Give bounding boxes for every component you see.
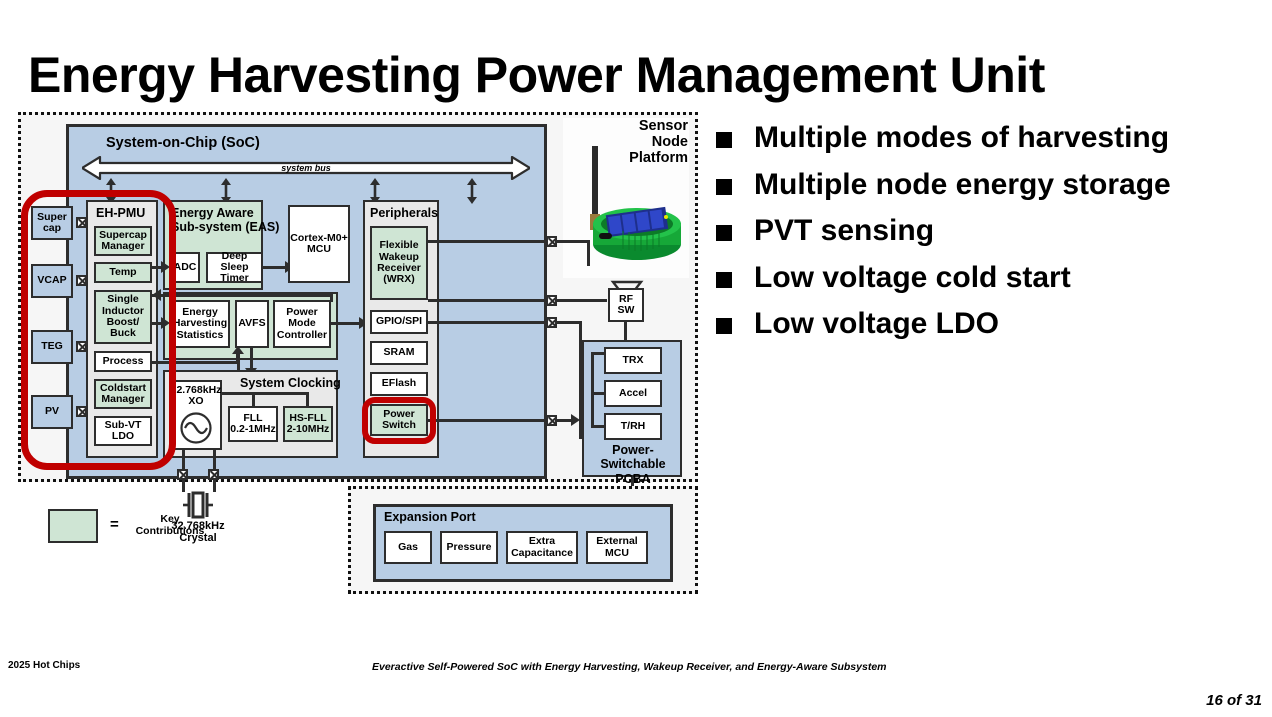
block-line: (WRX) bbox=[377, 274, 421, 285]
pad-node-xtal-right bbox=[208, 469, 219, 480]
block-line: MCU bbox=[290, 244, 347, 255]
list-item: Low voltage LDO bbox=[716, 306, 1256, 343]
eas-block-power-mode-controller: Power Mode Controller bbox=[273, 300, 331, 348]
wire-pcba-trh bbox=[591, 425, 605, 428]
block-line: SRAM bbox=[384, 347, 415, 358]
platform-title-line: Sensor bbox=[566, 118, 688, 134]
wire-wrx1b bbox=[557, 240, 589, 243]
wire-process-v bbox=[236, 352, 239, 362]
pcba-block-trh: T/RH bbox=[604, 413, 662, 440]
eas-title-line: Energy Aware bbox=[171, 206, 263, 220]
clocking-block-fll: FLL 0.2-1MHz bbox=[228, 406, 278, 442]
wire-wrx1 bbox=[428, 240, 546, 243]
block-line: Flexible bbox=[377, 240, 421, 251]
legend-label-line: Contributions bbox=[122, 525, 218, 537]
block-line: Sleep Timer bbox=[208, 262, 261, 285]
footer-conference: 2025 Hot Chips bbox=[8, 660, 80, 671]
block-line: External bbox=[596, 536, 637, 547]
page-title: Energy Harvesting Power Management Unit bbox=[28, 44, 1208, 106]
highlight-power-switch bbox=[362, 397, 436, 444]
soc-title: System-on-Chip (SoC) bbox=[106, 135, 260, 151]
bullet-square-icon bbox=[716, 225, 732, 241]
highlight-ehpmu-region bbox=[21, 190, 176, 470]
legend-key-swatch bbox=[48, 509, 98, 543]
block-line: GPIO/SPI bbox=[376, 316, 422, 327]
system-clocking-title: System Clocking bbox=[240, 376, 341, 390]
bullet-square-icon bbox=[716, 132, 732, 148]
list-item: Low voltage cold start bbox=[716, 260, 1256, 297]
block-line: 0.2-1MHz bbox=[230, 424, 276, 435]
expansion-block-external-mcu: External MCU bbox=[586, 531, 648, 564]
expansion-block-extra-capacitance: Extra Capacitance bbox=[506, 531, 578, 564]
expansion-block-gas: Gas bbox=[384, 531, 432, 564]
block-line: Controller bbox=[277, 330, 327, 341]
wire-psw bbox=[428, 419, 546, 422]
wire-gpio-b bbox=[557, 321, 581, 324]
bus-connector-peripherals bbox=[465, 178, 479, 204]
eas-title-line: Sub-system (EAS) bbox=[171, 220, 263, 234]
arrow-psw-to-pcba bbox=[571, 414, 580, 426]
wire-sibb-top bbox=[152, 294, 332, 297]
list-item: PVT sensing bbox=[716, 213, 1256, 250]
wire-dst-to-mcu bbox=[263, 266, 287, 269]
pcba-block-accel: Accel bbox=[604, 380, 662, 407]
bullet-text: PVT sensing bbox=[754, 213, 934, 250]
block-line: Mode bbox=[277, 318, 327, 329]
pad-node-gpio bbox=[546, 317, 557, 328]
block-line: T/RH bbox=[621, 421, 646, 432]
pad-node-wrx-2 bbox=[546, 295, 557, 306]
pad-node-wrx-1 bbox=[546, 236, 557, 247]
wire-gpio bbox=[428, 321, 546, 324]
bullet-square-icon bbox=[716, 318, 732, 334]
sensor-node-platform-title: Sensor Node Platform bbox=[566, 118, 688, 167]
platform-title-line: Node bbox=[566, 134, 688, 150]
block-line: MCU bbox=[596, 548, 637, 559]
pad-node-power-switch bbox=[546, 415, 557, 426]
oscillator-icon bbox=[179, 411, 213, 445]
block-line: Accel bbox=[619, 388, 647, 399]
block-line: TRX bbox=[623, 355, 644, 366]
block-rf-sw: RF SW bbox=[608, 288, 644, 322]
pcba-title-line: Switchable bbox=[590, 457, 676, 471]
block-cortex-m0-mcu: Cortex-M0+ MCU bbox=[288, 205, 350, 283]
list-item: Multiple node energy storage bbox=[716, 167, 1256, 204]
wire-fll-drop bbox=[252, 392, 255, 406]
block-line: EFlash bbox=[382, 378, 416, 389]
block-line: Pressure bbox=[447, 542, 492, 553]
footer-paper-title: Everactive Self-Powered SoC with Energy … bbox=[372, 661, 887, 673]
peripheral-block-gpio-spi: GPIO/SPI bbox=[370, 310, 428, 334]
bullet-square-icon bbox=[716, 272, 732, 288]
system-bus: system bus bbox=[82, 156, 530, 180]
bullet-list: Multiple modes of harvesting Multiple no… bbox=[716, 120, 1256, 353]
peripheral-block-sram: SRAM bbox=[370, 341, 428, 365]
bullet-text: Multiple modes of harvesting bbox=[754, 120, 1169, 157]
bullet-square-icon bbox=[716, 179, 732, 195]
block-line: AVFS bbox=[238, 318, 265, 329]
wire-sibb-v bbox=[330, 294, 333, 302]
block-line: Statistics bbox=[173, 330, 227, 341]
wire-rfsw-to-pcba bbox=[624, 322, 627, 340]
wire-wrx2b bbox=[557, 299, 607, 302]
peripheral-block-eflash: EFlash bbox=[370, 372, 428, 396]
legend-equals: = bbox=[110, 516, 119, 533]
wire-pmc-to-peripherals bbox=[331, 322, 361, 325]
system-bus-label: system bus bbox=[82, 156, 530, 180]
expansion-block-pressure: Pressure bbox=[440, 531, 498, 564]
eas-title: Energy Aware Sub-system (EAS) bbox=[171, 206, 263, 234]
block-line: Gas bbox=[398, 542, 418, 553]
block-line: Capacitance bbox=[511, 548, 573, 559]
block-line: Harvesting bbox=[173, 318, 227, 329]
pcba-title-line: Power- bbox=[590, 443, 676, 457]
bullet-text: Multiple node energy storage bbox=[754, 167, 1171, 204]
wire-pcba-accel bbox=[591, 392, 605, 395]
legend-label: Key Contributions bbox=[122, 513, 218, 537]
legend-label-line: Key bbox=[122, 513, 218, 525]
list-item: Multiple modes of harvesting bbox=[716, 120, 1256, 157]
block-line: 2-10MHz bbox=[287, 424, 330, 435]
pad-node-xtal-left bbox=[177, 469, 188, 480]
expansion-port-title: Expansion Port bbox=[384, 510, 476, 524]
bullet-text: Low voltage cold start bbox=[754, 260, 1071, 297]
clocking-block-hs-fll: HS-FLL 2-10MHz bbox=[283, 406, 333, 442]
block-line: ADC bbox=[174, 262, 197, 273]
wire-wrx1v bbox=[587, 240, 590, 266]
wire-xo-to-flls bbox=[222, 392, 308, 395]
peripheral-block-flexible-wakeup-receiver: Flexible Wakeup Receiver (WRX) bbox=[370, 226, 428, 300]
wire-wrx2 bbox=[428, 299, 546, 302]
wire-hsfll-drop bbox=[306, 392, 309, 406]
eas-block-energy-harvesting-statistics: Energy Harvesting Statistics bbox=[170, 300, 230, 348]
peripherals-title: Peripherals bbox=[370, 206, 438, 220]
wire-pcba-trx bbox=[591, 352, 605, 355]
pcba-block-trx: TRX bbox=[604, 347, 662, 374]
block-line: Extra bbox=[511, 536, 573, 547]
bullet-text: Low voltage LDO bbox=[754, 306, 999, 343]
eas-block-deep-sleep-timer: Deep Sleep Timer bbox=[206, 252, 263, 283]
block-line: XO bbox=[171, 396, 222, 407]
platform-title-line: Platform bbox=[566, 150, 688, 166]
block-line: SW bbox=[618, 305, 635, 316]
slide-number: 16 of 31 bbox=[1206, 692, 1262, 709]
wire-pcba-bus bbox=[591, 352, 594, 427]
eas-block-avfs: AVFS bbox=[235, 300, 269, 348]
block-diagram: Sensor Node Platform System-on-Chip (SoC… bbox=[18, 112, 698, 594]
